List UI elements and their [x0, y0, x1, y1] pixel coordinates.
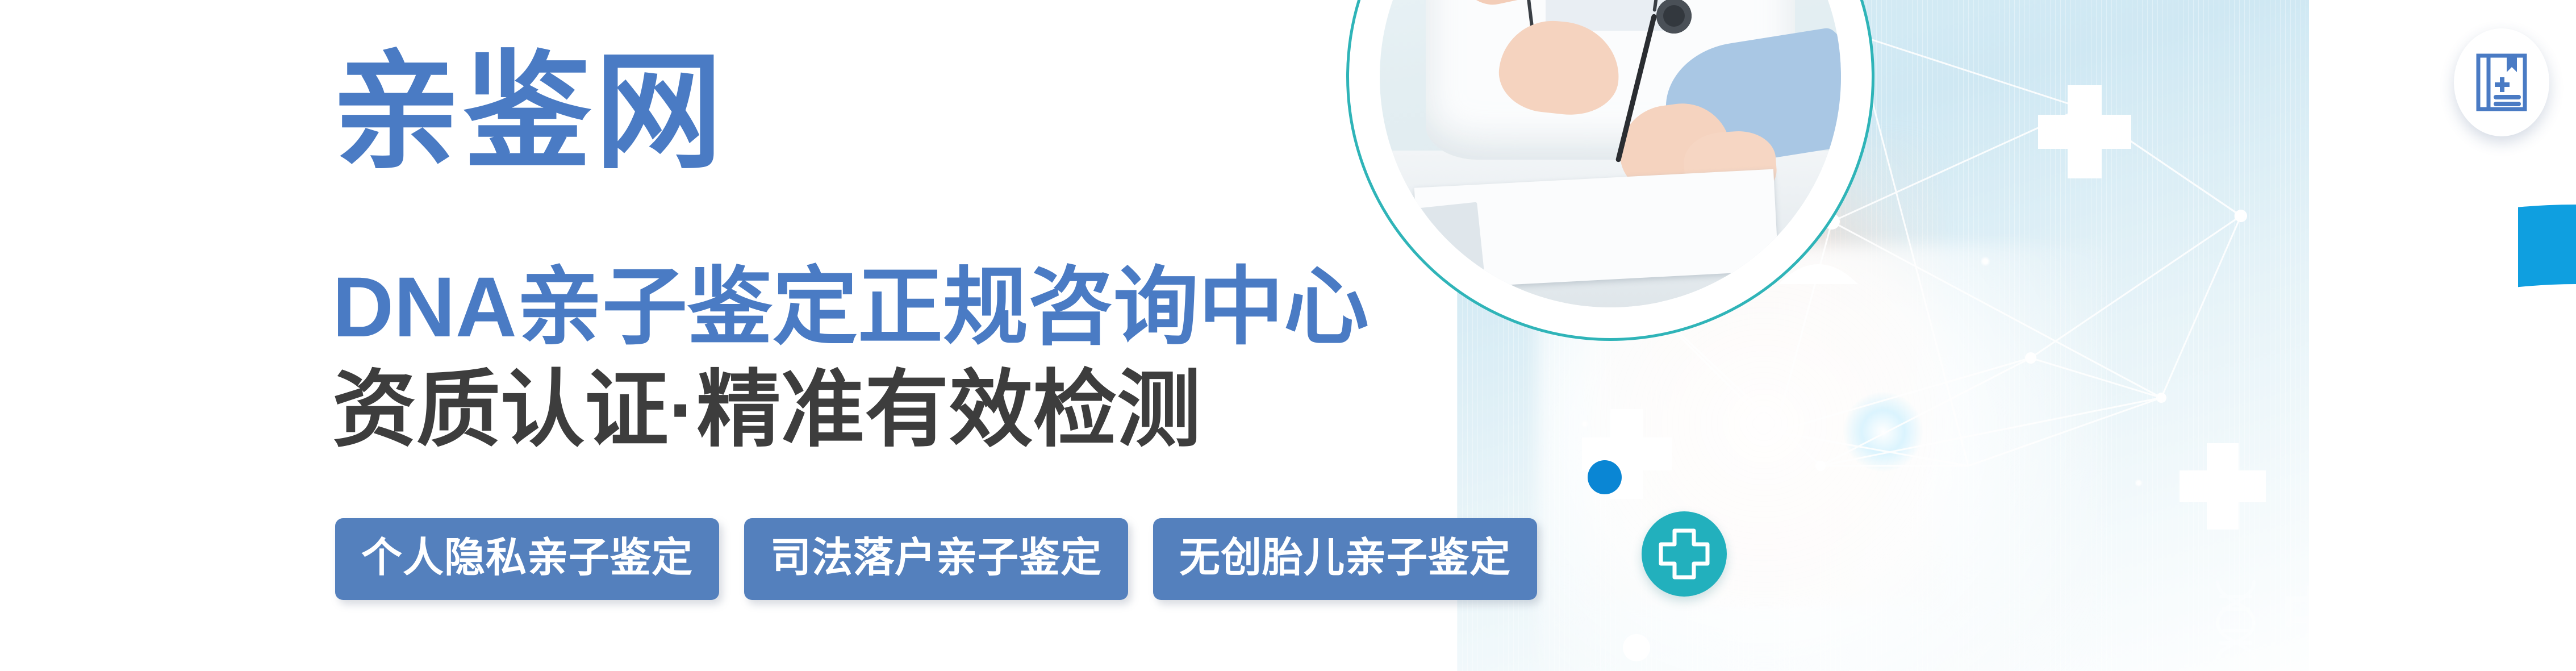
service-button-noninvasive-prenatal[interactable]: 无创胎儿亲子鉴定 [1153, 518, 1537, 600]
service-button-judicial-residency[interactable]: 司法落户亲子鉴定 [744, 518, 1128, 600]
service-button-personal-privacy[interactable]: 个人隐私亲子鉴定 [335, 518, 719, 600]
medical-book-badge [2454, 28, 2549, 136]
banner-content: 亲鉴网 DNA亲子鉴定正规咨询中心 资质认证·精准有效检测 个人隐私亲子鉴定 司… [0, 0, 1647, 671]
medical-cross-icon [1642, 511, 1727, 597]
service-button-row: 个人隐私亲子鉴定 司法落户亲子鉴定 无创胎儿亲子鉴定 [335, 518, 1537, 600]
brand-title: 亲鉴网 [332, 48, 726, 176]
promo-banner: 中检国权 亲鉴网 DNA亲子鉴定正规咨询中心 资质认证·精准有效检测 个人隐私亲… [0, 0, 2576, 671]
banner-tagline: 资质认证·精准有效检测 [332, 368, 1201, 452]
banner-subtitle: DNA亲子鉴定正规咨询中心 [332, 264, 1369, 349]
medical-book-icon [2475, 53, 2528, 112]
medical-cross-badge [1642, 511, 1727, 597]
